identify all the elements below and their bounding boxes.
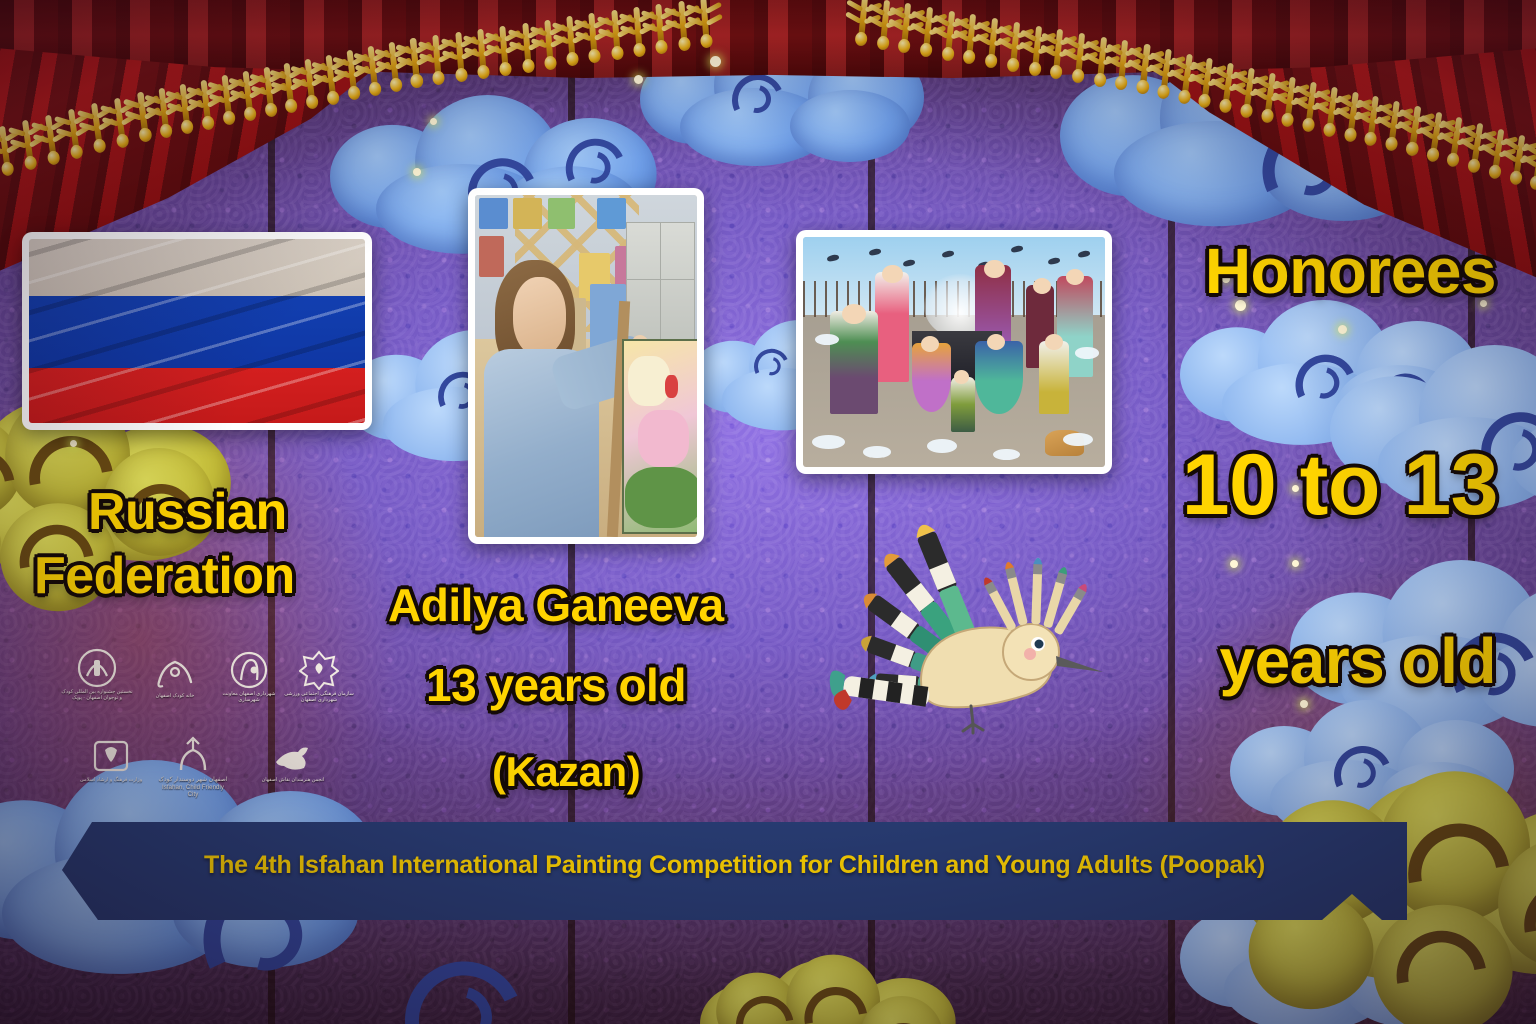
age-group-line-1: 10 to 13 <box>1182 436 1498 535</box>
artwork-scene <box>803 237 1105 467</box>
sparkle-glint <box>634 75 643 84</box>
event-banner-text: The 4th Isfahan International Painting C… <box>62 851 1407 880</box>
iran-ministry-logo-caption: وزارت فرهنگ و ارشاد اسلامی <box>74 777 148 783</box>
isfahan-painters-association-logo-mark <box>273 736 313 776</box>
honorees-title: Honorees <box>1205 234 1496 308</box>
fringe-tassel <box>1521 138 1536 188</box>
age-group-line-2: years old <box>1219 624 1496 698</box>
sparkle-glint <box>70 440 77 447</box>
isfahan-child-friendly-city-logo-mark <box>173 736 213 776</box>
sparkle-glint <box>430 118 437 125</box>
winning-artwork <box>796 230 1112 474</box>
stage-curtain-valance <box>0 0 1536 78</box>
isfahan-cultural-recreational-org-logo-mark <box>299 650 339 690</box>
isfahan-cultural-recreational-org-logo-caption: سازمان فرهنگی اجتماعی ورزشی شهرداری اصفه… <box>282 691 356 704</box>
sparkle-glint <box>413 168 421 176</box>
artist-name: Adilya Ganeeva <box>388 578 724 632</box>
isfahan-painters-association-logo: انجمن هنرمندان نقاش اصفهان <box>256 736 330 816</box>
sparkle-glint <box>1230 560 1238 568</box>
isfahan-intl-festival-logo-caption: نخستین جشنواره بین المللی کودک و نوجوان … <box>60 689 134 702</box>
sparkle-glint <box>1338 325 1347 334</box>
isfahan-childrens-house-logo: خانه کودک اصفهان <box>138 652 212 732</box>
fringe-tassel <box>688 0 721 45</box>
country-name-line-2: Federation <box>34 546 295 606</box>
country-name-line-1: Russian <box>88 482 287 542</box>
sparkle-glint <box>1300 700 1308 708</box>
poster-canvas: Honorees 10 to 13 years old Russian Fede… <box>0 0 1536 1024</box>
isfahan-childrens-house-logo-caption: خانه کودک اصفهان <box>138 693 212 699</box>
sparkle-glint <box>1292 560 1299 567</box>
isfahan-cultural-recreational-org-logo: سازمان فرهنگی اجتماعی ورزشی شهرداری اصفه… <box>282 650 356 730</box>
iran-ministry-logo-mark <box>91 736 131 776</box>
russian-federation-flag <box>22 232 372 430</box>
isfahan-child-friendly-city-logo: اصفهان شهر دوستدار کودک Isfahan, Child F… <box>156 736 230 816</box>
isfahan-child-friendly-city-logo-caption: اصفهان شهر دوستدار کودک Isfahan, Child F… <box>156 777 230 800</box>
poopak-hoopoe-mascot <box>825 520 1105 760</box>
isfahan-intl-festival-logo: نخستین جشنواره بین المللی کودک و نوجوان … <box>60 648 134 728</box>
isfahan-painters-association-logo-caption: انجمن هنرمندان نقاش اصفهان <box>256 777 330 783</box>
photo-scene <box>475 195 697 537</box>
isfahan-municipality-logo: شهرداری اصفهان معاونت شهرسازی <box>212 650 286 730</box>
isfahan-municipality-logo-mark <box>229 650 269 690</box>
isfahan-municipality-logo-caption: شهرداری اصفهان معاونت شهرسازی <box>212 691 286 704</box>
isfahan-childrens-house-logo-mark <box>155 652 195 692</box>
artist-age: 13 years old <box>426 658 686 712</box>
event-banner: The 4th Isfahan International Painting C… <box>62 822 1407 920</box>
artist-portrait-photo <box>468 188 704 544</box>
artist-city: (Kazan) <box>492 748 640 796</box>
sparkle-glint <box>710 56 721 67</box>
sponsor-logos-strip: نخستین جشنواره بین المللی کودک و نوجوان … <box>60 648 356 808</box>
iran-ministry-logo: وزارت فرهنگ و ارشاد اسلامی <box>74 736 148 816</box>
isfahan-intl-festival-logo-mark <box>77 648 117 688</box>
flag-wave-shading <box>29 239 365 423</box>
